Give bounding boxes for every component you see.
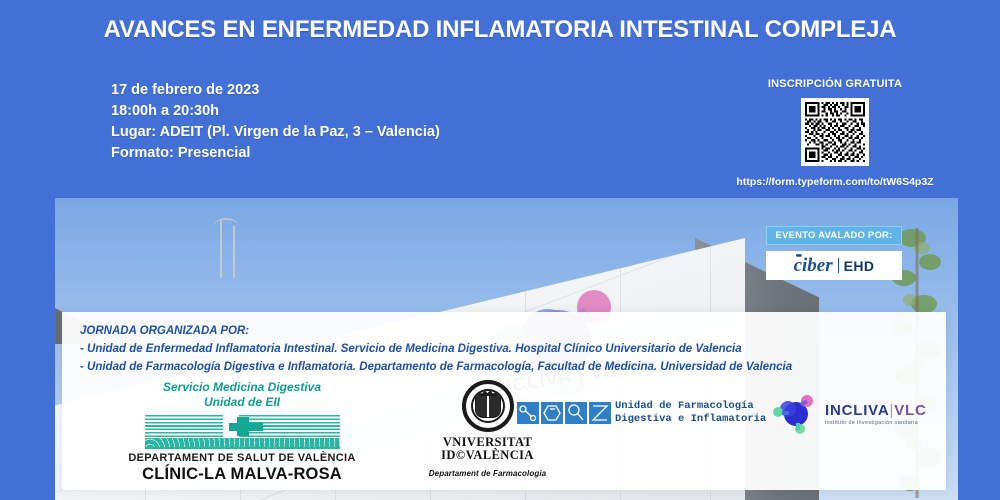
hospital-dept-line: DEPARTAMENT DE SALUT DE VALÈNCIA	[117, 451, 367, 465]
endorsement-label: EVENTO AVALADO POR:	[766, 226, 902, 245]
university-crown-icon	[479, 390, 497, 396]
event-place: Lugar: ADEIT (Pl. Virgen de la Paz, 3 – …	[111, 122, 440, 143]
incliva-subtitle: instituto de investigación sanitaria	[825, 420, 927, 426]
incliva-wordmark: INCLIVA|VLC	[825, 403, 927, 419]
incliva-suffix: VLC	[894, 402, 926, 419]
registration-block: INSCRIPCIÓN GRATUITA	[720, 78, 950, 188]
hospital-name-line: CLÍNIC-LA MALVA-ROSA	[117, 465, 367, 484]
hospital-cross-horizontal	[229, 423, 263, 431]
event-details: 17 de febrero de 2023 18:00h a 20:30h Lu…	[111, 80, 440, 164]
registration-label: INSCRIPCIÓN GRATUITA	[720, 78, 950, 90]
organizers-heading: JORNADA ORGANIZADA POR:	[80, 322, 936, 340]
organizer-line-1: - Unidad de Enfermedad Inflamatoria Inte…	[80, 340, 936, 358]
info-panel: JORNADA ORGANIZADA POR: - Unidad de Enfe…	[62, 312, 946, 490]
incliva-molecule-icon	[772, 394, 818, 434]
antenna-mast	[220, 220, 222, 278]
organizer-line-2: - Unidad de Farmacología Digestiva e Inf…	[80, 358, 936, 376]
antenna-mast-secondary	[233, 226, 235, 278]
incliva-name: INCLIVA	[825, 402, 890, 419]
logo-incliva: INCLIVA|VLC instituto de investigación s…	[772, 394, 972, 434]
logo-pharmacology-unit: Unidad de Farmacología Digestiva e Infla…	[517, 400, 767, 426]
pharmacology-text: Unidad de Farmacología Digestiva e Infla…	[615, 400, 766, 426]
magnifier-icon	[565, 402, 587, 424]
incliva-text: INCLIVA|VLC instituto de investigación s…	[825, 403, 927, 426]
page-title: AVANCES EN ENFERMEDAD INFLAMATORIA INTES…	[0, 16, 1000, 44]
logo-universitat-valencia: VNIVERSITAT ID©VALÈNCIA Departament de F…	[425, 380, 550, 478]
event-date: 17 de febrero de 2023	[111, 80, 440, 101]
logo-hospital: Servicio Medicina Digestiva Unidad de EI…	[117, 380, 367, 484]
hexagon-ring-icon	[541, 402, 563, 424]
pharmacology-line1: Unidad de Farmacología	[615, 400, 766, 413]
ciber-ehd-text: EHD	[844, 258, 875, 274]
hospital-service-line2: Unidad de EII	[117, 395, 367, 410]
pharmacology-icon-set	[517, 402, 611, 424]
organizers-block: JORNADA ORGANIZADA POR: - Unidad de Enfe…	[80, 322, 936, 376]
qr-code-icon[interactable]	[801, 98, 869, 166]
university-seal-inner	[471, 389, 505, 423]
ciber-umlaut-icon: •••	[796, 252, 801, 262]
ciber-logo: ••• ciber EHD	[766, 251, 902, 280]
hospital-service-line1: Servicio Medicina Digestiva	[117, 380, 367, 395]
ciber-divider	[838, 258, 839, 273]
university-name-line2: ID©VALÈNCIA	[425, 449, 550, 462]
hospital-emblem-icon	[145, 415, 340, 449]
endorsement-block: EVENTO AVALADO POR: ••• ciber EHD	[766, 226, 902, 280]
logo-row: Servicio Medicina Digestiva Unidad de EI…	[62, 380, 946, 488]
pharmacology-line2: Digestiva e Inflamatoria	[615, 413, 766, 426]
event-time: 18:00h a 20:30h	[111, 101, 440, 122]
university-department: Departament de Farmacologia	[425, 469, 550, 478]
flask-icon	[589, 402, 611, 424]
registration-url[interactable]: https://form.typeform.com/to/tW6S4p3Z	[720, 176, 950, 188]
university-seal-icon	[462, 380, 514, 432]
molecule-node-icon	[517, 402, 539, 424]
event-format: Formato: Presencial	[111, 143, 440, 164]
poster-root: AVANCES EN ENFERMEDAD INFLAMATORIA INTES…	[0, 0, 1000, 500]
hospital-baseline	[145, 447, 340, 449]
qr-code-svg	[805, 102, 865, 162]
university-shield-icon	[475, 394, 501, 418]
ciber-wordmark: ••• ciber	[794, 256, 833, 275]
